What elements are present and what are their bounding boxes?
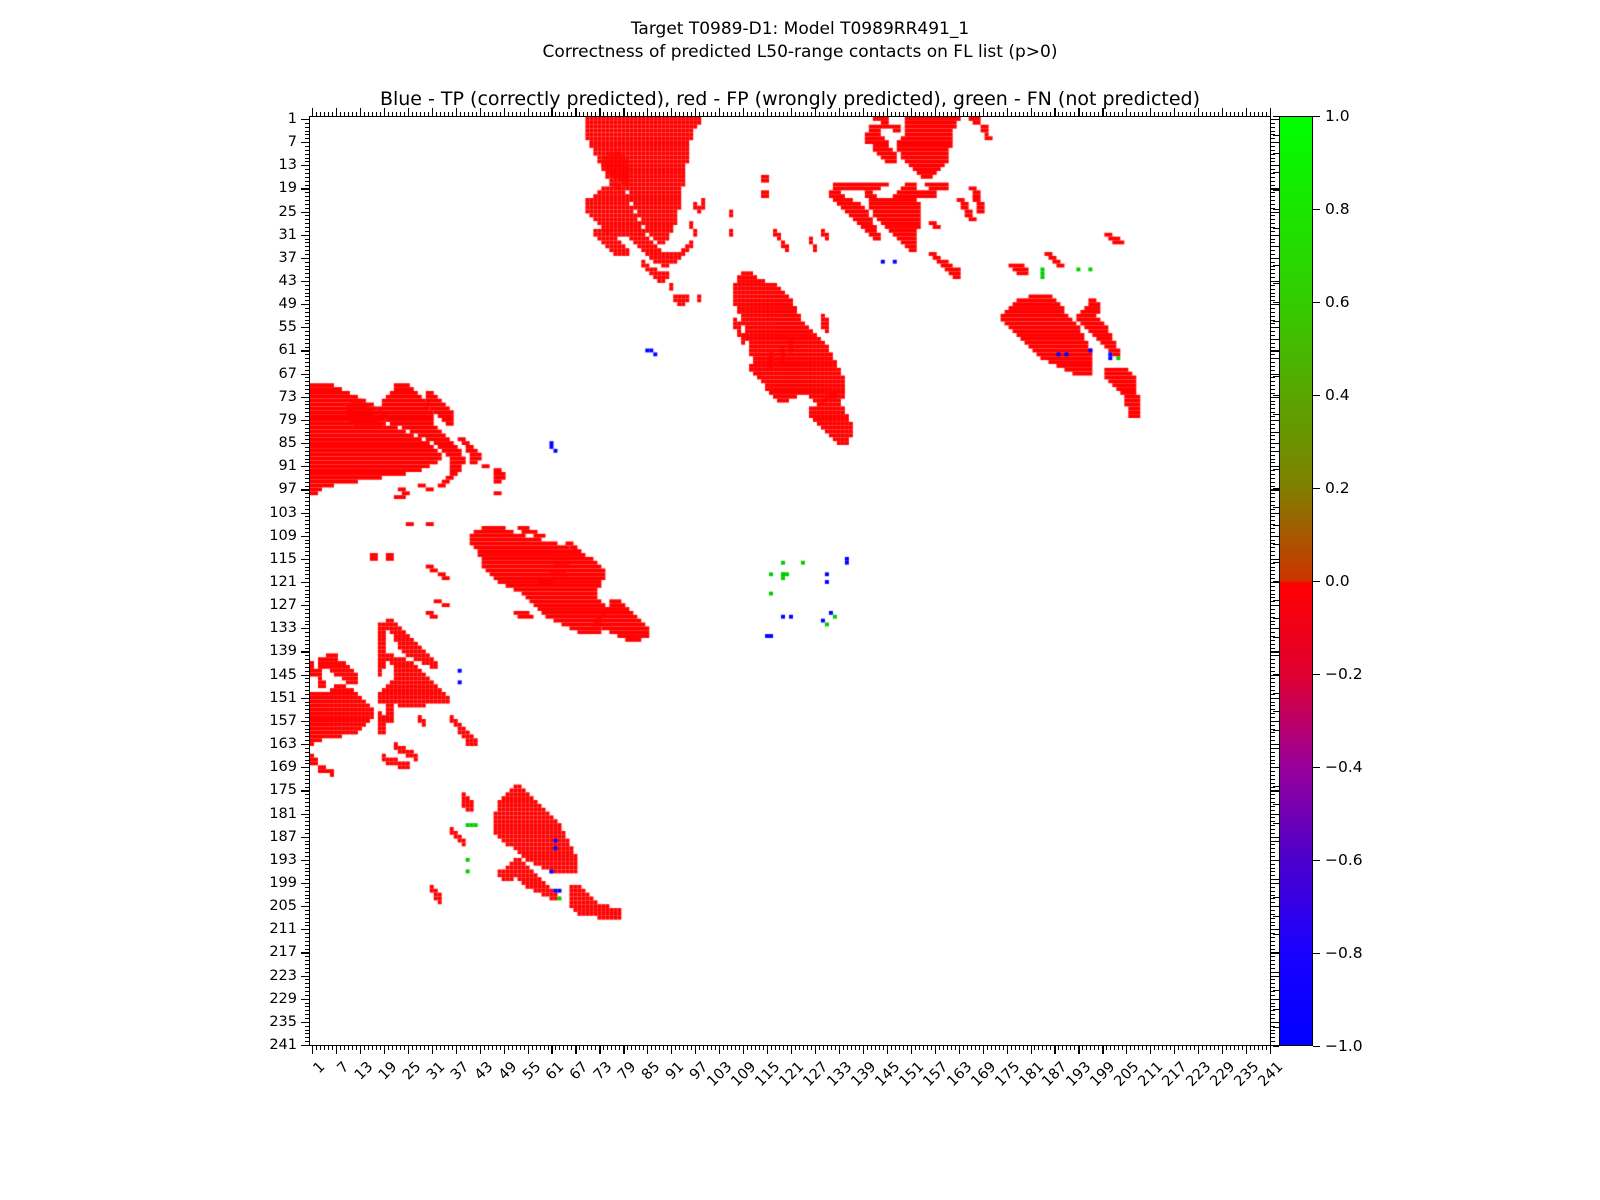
colorbar-minor-tick: [1273, 804, 1279, 805]
y-tick: [301, 628, 310, 629]
x-tick: [599, 1045, 600, 1054]
y-axis-label: 73: [279, 389, 297, 405]
y-tick-right: [1270, 736, 1275, 737]
y-tick-right: [1270, 937, 1275, 938]
y-tick: [305, 185, 310, 186]
y-axis-label: 241: [269, 1037, 297, 1053]
x-tick: [671, 1045, 672, 1054]
y-tick-right: [1270, 482, 1275, 483]
y-tick-right: [1270, 443, 1279, 444]
x-tick-top: [1046, 112, 1047, 117]
x-tick: [1194, 1045, 1195, 1050]
x-tick: [915, 1045, 916, 1050]
x-tick-top: [440, 112, 441, 117]
y-tick: [305, 609, 310, 610]
y-tick-right: [1270, 578, 1275, 579]
y-tick: [305, 621, 310, 622]
y-tick-right: [1270, 906, 1279, 907]
y-tick: [301, 489, 310, 490]
x-tick: [1146, 1045, 1147, 1050]
contact-map-canvas: [310, 117, 1272, 1047]
y-tick: [305, 320, 310, 321]
x-tick-top: [787, 112, 788, 117]
y-tick: [305, 1010, 310, 1011]
x-tick: [859, 1045, 860, 1050]
y-tick: [301, 235, 310, 236]
x-tick-top: [999, 112, 1000, 117]
contact-map-plot[interactable]: 1177131319192525313137374343494955556161…: [309, 116, 1271, 1046]
x-tick: [412, 1045, 413, 1050]
x-tick-top: [336, 108, 337, 117]
y-tick: [305, 875, 310, 876]
x-tick-top: [488, 112, 489, 117]
y-tick: [301, 999, 310, 1000]
y-tick: [305, 567, 310, 568]
y-tick: [305, 798, 310, 799]
y-axis-label: 115: [269, 551, 297, 567]
y-tick: [305, 1030, 310, 1031]
x-tick: [520, 1045, 521, 1050]
x-tick-top: [1218, 112, 1219, 117]
colorbar-tick-label: −1.0: [1325, 1037, 1363, 1055]
y-tick-right: [1270, 983, 1275, 984]
y-tick-right: [1270, 188, 1279, 189]
y-tick: [305, 146, 310, 147]
x-tick-top: [571, 112, 572, 117]
x-tick: [743, 1045, 744, 1054]
y-tick-right: [1270, 1037, 1275, 1038]
y-tick: [305, 748, 310, 749]
x-tick: [807, 1045, 808, 1050]
x-tick-top: [659, 112, 660, 117]
y-tick: [305, 578, 310, 579]
x-tick: [456, 1045, 457, 1054]
y-tick: [305, 547, 310, 548]
x-tick: [891, 1045, 892, 1050]
x-tick-top: [767, 108, 768, 117]
x-tick: [380, 1045, 381, 1050]
x-tick-top: [943, 112, 944, 117]
x-tick-top: [1106, 112, 1107, 117]
x-tick: [707, 1045, 708, 1050]
x-tick: [392, 1045, 393, 1050]
x-tick: [1234, 1045, 1235, 1050]
y-tick: [305, 532, 310, 533]
x-tick: [1058, 1045, 1059, 1050]
y-tick: [301, 767, 310, 768]
y-tick-right: [1270, 1003, 1275, 1004]
y-tick-right: [1270, 632, 1275, 633]
colorbar-minor-tick: [1273, 395, 1279, 396]
y-tick: [305, 848, 310, 849]
x-tick: [647, 1045, 648, 1054]
x-tick-top: [619, 112, 620, 117]
y-tick: [305, 690, 310, 691]
x-tick-top: [951, 112, 952, 117]
y-tick: [305, 343, 310, 344]
x-tick-top: [903, 112, 904, 117]
y-tick-right: [1270, 327, 1279, 328]
x-axis-label: 175: [992, 1059, 1023, 1090]
y-tick-right: [1270, 648, 1275, 649]
y-tick-right: [1270, 810, 1275, 811]
y-tick-right: [1270, 651, 1279, 652]
y-tick: [305, 177, 310, 178]
y-tick: [305, 404, 310, 405]
y-tick-right: [1270, 640, 1275, 641]
colorbar-minor-tick: [1273, 637, 1279, 638]
x-tick-top: [831, 112, 832, 117]
y-tick: [305, 736, 310, 737]
x-tick-top: [651, 112, 652, 117]
x-tick-top: [1015, 112, 1016, 117]
y-tick-right: [1270, 455, 1275, 456]
x-tick: [863, 1045, 864, 1054]
colorbar-minor-tick: [1273, 897, 1279, 898]
y-tick-right: [1270, 709, 1275, 710]
y-tick: [305, 590, 310, 591]
y-tick: [305, 393, 310, 394]
y-axis-label: 217: [269, 944, 297, 960]
y-tick: [305, 760, 310, 761]
y-tick-right: [1270, 825, 1275, 826]
y-tick: [301, 605, 310, 606]
x-tick-top: [815, 108, 816, 117]
x-tick: [819, 1045, 820, 1050]
y-tick-right: [1270, 374, 1279, 375]
y-axis-label: 91: [279, 458, 297, 474]
x-tick: [1102, 1045, 1103, 1054]
x-tick: [771, 1045, 772, 1050]
y-tick-right: [1270, 601, 1275, 602]
y-tick-right: [1270, 131, 1275, 132]
x-tick: [1074, 1045, 1075, 1050]
x-tick-top: [500, 112, 501, 117]
y-tick-right: [1270, 914, 1275, 915]
y-tick: [305, 377, 310, 378]
x-tick: [875, 1045, 876, 1050]
y-tick-right: [1270, 918, 1275, 919]
colorbar-minor-tick: [1273, 172, 1279, 173]
x-tick-top: [719, 108, 720, 117]
y-tick: [305, 702, 310, 703]
y-tick: [305, 945, 310, 946]
y-tick: [305, 323, 310, 324]
x-tick: [1226, 1045, 1227, 1050]
y-axis-label: 55: [279, 319, 297, 335]
x-tick: [388, 1045, 389, 1050]
y-tick-right: [1270, 258, 1279, 259]
colorbar-tick-label: 0.2: [1325, 479, 1350, 497]
y-tick-right: [1270, 814, 1279, 815]
y-tick: [301, 952, 310, 953]
y-tick-right: [1270, 613, 1275, 614]
x-tick: [1050, 1045, 1051, 1050]
y-axis-label: 103: [269, 505, 297, 521]
x-tick-top: [699, 112, 700, 117]
y-tick-right: [1270, 204, 1275, 205]
colorbar-minor-tick: [1273, 953, 1279, 954]
y-tick-right: [1270, 925, 1275, 926]
y-tick: [305, 416, 310, 417]
x-tick: [1150, 1045, 1151, 1054]
x-tick: [1190, 1045, 1191, 1050]
x-tick-top: [939, 112, 940, 117]
y-tick-right: [1270, 1033, 1275, 1034]
y-tick: [305, 613, 310, 614]
y-tick-right: [1270, 1014, 1275, 1015]
colorbar-tick: [1313, 209, 1320, 210]
x-tick-top: [1258, 112, 1259, 117]
x-tick-top: [675, 112, 676, 117]
x-tick: [755, 1045, 756, 1050]
colorbar-tick: [1313, 674, 1320, 675]
x-tick-top: [1190, 112, 1191, 117]
y-tick-right: [1270, 127, 1275, 128]
y-tick: [305, 451, 310, 452]
x-tick-top: [324, 112, 325, 117]
x-tick: [811, 1045, 812, 1050]
y-tick: [305, 648, 310, 649]
y-tick-right: [1270, 690, 1275, 691]
colorbar-minor-tick: [1273, 655, 1279, 656]
y-tick: [305, 335, 310, 336]
y-tick: [305, 829, 310, 830]
y-axis-label: 235: [269, 1014, 297, 1030]
y-tick-right: [1270, 212, 1279, 213]
x-tick: [512, 1045, 513, 1050]
colorbar-minor-tick: [1273, 135, 1279, 136]
x-tick: [1250, 1045, 1251, 1050]
y-tick-right: [1270, 304, 1279, 305]
y-tick: [305, 594, 310, 595]
x-axis-label: 145: [872, 1059, 903, 1090]
x-axis-label: 151: [896, 1059, 927, 1090]
x-tick: [340, 1045, 341, 1050]
y-tick: [305, 624, 310, 625]
x-tick-top: [1166, 112, 1167, 117]
colorbar-minor-tick: [1273, 228, 1279, 229]
y-tick: [305, 366, 310, 367]
y-tick-right: [1270, 659, 1275, 660]
y-tick-right: [1270, 698, 1279, 699]
x-tick: [1138, 1045, 1139, 1050]
x-tick-top: [667, 112, 668, 117]
y-axis-label: 97: [279, 481, 297, 497]
x-tick-top: [1154, 112, 1155, 117]
y-tick: [305, 597, 310, 598]
y-tick-right: [1270, 513, 1279, 514]
x-tick-top: [1102, 108, 1103, 117]
y-tick-right: [1270, 644, 1275, 645]
x-tick: [987, 1045, 988, 1050]
y-tick-right: [1270, 528, 1275, 529]
y-axis-label: 163: [269, 736, 297, 752]
y-tick: [305, 493, 310, 494]
y-tick-right: [1270, 192, 1275, 193]
x-tick: [747, 1045, 748, 1050]
y-tick: [305, 497, 310, 498]
colorbar-minor-tick: [1273, 190, 1279, 191]
x-tick-top: [1254, 112, 1255, 117]
y-tick: [305, 285, 310, 286]
x-tick-top: [1019, 112, 1020, 117]
colorbar-tick-label: 1.0: [1325, 107, 1350, 125]
x-tick-top: [783, 112, 784, 117]
y-tick: [305, 895, 310, 896]
y-tick: [301, 350, 310, 351]
x-tick-top: [955, 112, 956, 117]
x-tick: [615, 1045, 616, 1050]
y-tick-right: [1270, 621, 1275, 622]
x-axis-label: 43: [472, 1059, 496, 1083]
y-axis-label: 199: [269, 875, 297, 891]
y-axis-label: 127: [269, 597, 297, 613]
y-tick: [305, 844, 310, 845]
y-tick: [305, 362, 310, 363]
x-axis-label: 61: [543, 1059, 567, 1083]
y-tick: [305, 1037, 310, 1038]
y-tick-right: [1270, 397, 1279, 398]
x-tick-top: [1070, 112, 1071, 117]
y-tick-right: [1270, 269, 1275, 270]
y-tick-right: [1270, 779, 1275, 780]
x-tick: [1054, 1045, 1055, 1054]
y-tick-right: [1270, 910, 1275, 911]
colorbar-minor-tick: [1273, 562, 1279, 563]
colorbar-tick: [1313, 395, 1320, 396]
x-tick-top: [316, 112, 317, 117]
y-tick: [305, 825, 310, 826]
x-tick-top: [1242, 112, 1243, 117]
y-tick: [305, 123, 310, 124]
y-tick: [305, 864, 310, 865]
y-tick-right: [1270, 898, 1275, 899]
x-tick-top: [1210, 112, 1211, 117]
x-tick: [416, 1045, 417, 1050]
y-tick-right: [1270, 177, 1275, 178]
x-tick-top: [683, 112, 684, 117]
y-tick: [305, 462, 310, 463]
y-tick: [305, 705, 310, 706]
y-tick: [305, 871, 310, 872]
colorbar-tick: [1313, 488, 1320, 489]
x-tick-top: [739, 112, 740, 117]
x-tick-top: [1146, 112, 1147, 117]
x-tick: [975, 1045, 976, 1050]
y-tick: [305, 385, 310, 386]
y-tick: [305, 640, 310, 641]
y-tick-right: [1270, 343, 1275, 344]
y-tick-right: [1270, 223, 1275, 224]
x-tick-top: [727, 112, 728, 117]
y-tick: [305, 617, 310, 618]
x-tick-top: [332, 112, 333, 117]
y-tick-right: [1270, 532, 1275, 533]
x-tick: [448, 1045, 449, 1050]
x-tick: [1198, 1045, 1199, 1054]
y-tick: [305, 740, 310, 741]
colorbar-minor-tick: [1273, 879, 1279, 880]
y-tick: [305, 289, 310, 290]
x-tick-top: [791, 108, 792, 117]
y-tick-right: [1270, 231, 1275, 232]
y-tick-right: [1270, 678, 1275, 679]
y-tick-right: [1270, 296, 1275, 297]
x-tick: [591, 1045, 592, 1050]
x-tick: [559, 1045, 560, 1050]
y-tick-right: [1270, 794, 1275, 795]
x-tick: [667, 1045, 668, 1050]
y-tick-right: [1270, 895, 1275, 896]
y-tick-right: [1270, 752, 1275, 753]
x-tick: [1082, 1045, 1083, 1050]
x-tick: [907, 1045, 908, 1050]
x-tick: [927, 1045, 928, 1050]
y-tick: [305, 725, 310, 726]
y-tick: [305, 293, 310, 294]
x-tick: [1034, 1045, 1035, 1050]
y-tick: [305, 200, 310, 201]
y-tick-right: [1270, 335, 1275, 336]
y-tick: [305, 242, 310, 243]
x-tick-top: [991, 112, 992, 117]
x-tick-top: [983, 108, 984, 117]
y-tick: [305, 308, 310, 309]
y-tick-right: [1270, 424, 1275, 425]
y-tick: [305, 246, 310, 247]
x-tick: [695, 1045, 696, 1054]
x-tick: [352, 1045, 353, 1050]
x-tick: [516, 1045, 517, 1050]
y-axis-label: 229: [269, 991, 297, 1007]
y-tick: [301, 790, 310, 791]
colorbar-minor-tick: [1273, 823, 1279, 824]
x-tick: [360, 1045, 361, 1054]
x-tick: [396, 1045, 397, 1050]
y-tick-right: [1270, 756, 1275, 757]
y-tick: [305, 389, 310, 390]
x-tick-top: [496, 112, 497, 117]
y-axis-label: 121: [269, 574, 297, 590]
x-tick: [484, 1045, 485, 1050]
x-tick-top: [639, 112, 640, 117]
x-tick-top: [476, 112, 477, 117]
x-tick: [476, 1045, 477, 1050]
x-tick: [935, 1045, 936, 1054]
colorbar-minor-tick: [1273, 600, 1279, 601]
colorbar[interactable]: 1.00.80.60.40.20.0−0.2−0.4−0.6−0.8−1.0: [1279, 116, 1313, 1046]
x-tick-top: [711, 112, 712, 117]
x-tick: [623, 1045, 624, 1054]
x-tick: [364, 1045, 365, 1050]
y-tick: [305, 644, 310, 645]
colorbar-minor-tick: [1273, 376, 1279, 377]
colorbar-minor-tick: [1273, 767, 1279, 768]
x-tick-top: [579, 112, 580, 117]
y-tick: [305, 354, 310, 355]
x-tick: [424, 1045, 425, 1050]
x-tick-top: [452, 112, 453, 117]
x-tick-top: [779, 112, 780, 117]
x-tick: [715, 1045, 716, 1050]
x-tick: [540, 1045, 541, 1050]
x-tick: [795, 1045, 796, 1050]
y-tick: [305, 482, 310, 483]
y-tick: [305, 960, 310, 961]
y-tick-right: [1270, 1006, 1275, 1007]
y-tick-right: [1270, 987, 1275, 988]
